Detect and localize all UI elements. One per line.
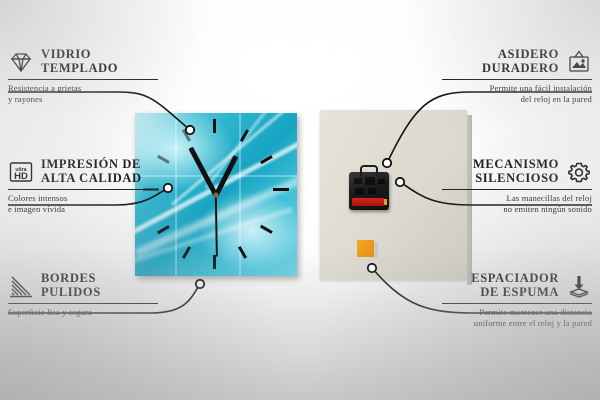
clock-tick: [182, 246, 191, 259]
clock-tick: [182, 129, 191, 142]
clock-center-hub: [214, 192, 219, 197]
feature-rule: [442, 189, 592, 190]
clock-tick: [260, 225, 273, 234]
foam-spacer: [357, 240, 374, 257]
feature-bordes-pulidos: BORDES PULIDOS Superficie lisa y segura: [8, 272, 213, 318]
feature-rule: [442, 79, 592, 80]
feature-rule: [442, 303, 592, 304]
feature-heading: MECANISMO SILENCIOSO: [387, 158, 592, 185]
feature-heading: ASIDERO DURADERO: [387, 48, 592, 75]
arrow-down-pad-icon: [566, 274, 592, 298]
feature-rule: [8, 189, 158, 190]
ultra-hd-icon: ultra HD: [8, 160, 34, 184]
clock-tick: [213, 119, 216, 133]
hanging-frame-icon: [566, 50, 592, 74]
clock-second-hand: [215, 195, 218, 257]
feature-description: Las manecillas del reloj no emiten ningú…: [387, 193, 592, 214]
feature-heading: ESPACIADOR DE ESPUMA: [387, 272, 592, 299]
mechanism-detail: [355, 188, 364, 195]
feature-heading: VIDRIO TEMPLADO: [8, 48, 213, 75]
feature-title: MECANISMO SILENCIOSO: [473, 158, 559, 185]
feature-title: IMPRESIÓN DE ALTA CALIDAD: [41, 158, 142, 185]
mechanism-battery: [352, 198, 384, 206]
feature-description: Superficie lisa y segura: [8, 307, 213, 318]
infographic-canvas: VIDRIO TEMPLADO Resistencia a grietas y …: [0, 0, 600, 400]
feature-description: Resistencia a grietas y rayones: [8, 83, 213, 104]
feature-espaciador-de-espuma: ESPACIADOR DE ESPUMA Permite mantener un…: [387, 272, 592, 328]
clock-tick: [273, 188, 289, 191]
feature-title: VIDRIO TEMPLADO: [41, 48, 118, 75]
mechanism-detail: [354, 178, 362, 184]
feature-description: Permite mantener una distancia uniforme …: [387, 307, 592, 328]
clock-mechanism: [349, 172, 389, 210]
diamond-icon: [8, 50, 34, 74]
feature-asidero-duradero: ASIDERO DURADERO Permite una fácil insta…: [387, 48, 592, 104]
feature-mecanismo-silencioso: MECANISMO SILENCIOSO Las manecillas del …: [387, 158, 592, 214]
feature-heading: BORDES PULIDOS: [8, 272, 213, 299]
feature-rule: [8, 303, 158, 304]
feature-rule: [8, 79, 158, 80]
feature-impresion-alta-calidad: ultra HD IMPRESIÓN DE ALTA CALIDAD Color…: [8, 158, 213, 214]
svg-text:HD: HD: [14, 171, 28, 182]
gear-icon: [566, 160, 592, 184]
mechanism-detail: [378, 179, 385, 184]
clock-tick: [157, 225, 170, 234]
feature-title: ESPACIADOR DE ESPUMA: [471, 272, 559, 299]
feature-heading: ultra HD IMPRESIÓN DE ALTA CALIDAD: [8, 158, 213, 185]
feature-title: ASIDERO DURADERO: [482, 48, 559, 75]
clock-tick: [213, 255, 216, 269]
feature-description: Permite una fácil instalación del reloj …: [387, 83, 592, 104]
mechanism-detail: [368, 188, 376, 194]
feature-description: Colores intensos e imagen vívida: [8, 193, 213, 214]
mechanism-detail: [365, 177, 375, 185]
mechanism-hanger: [360, 165, 378, 176]
feature-title: BORDES PULIDOS: [41, 272, 101, 299]
feature-vidrio-templado: VIDRIO TEMPLADO Resistencia a grietas y …: [8, 48, 213, 104]
polished-edge-icon: [8, 274, 34, 298]
